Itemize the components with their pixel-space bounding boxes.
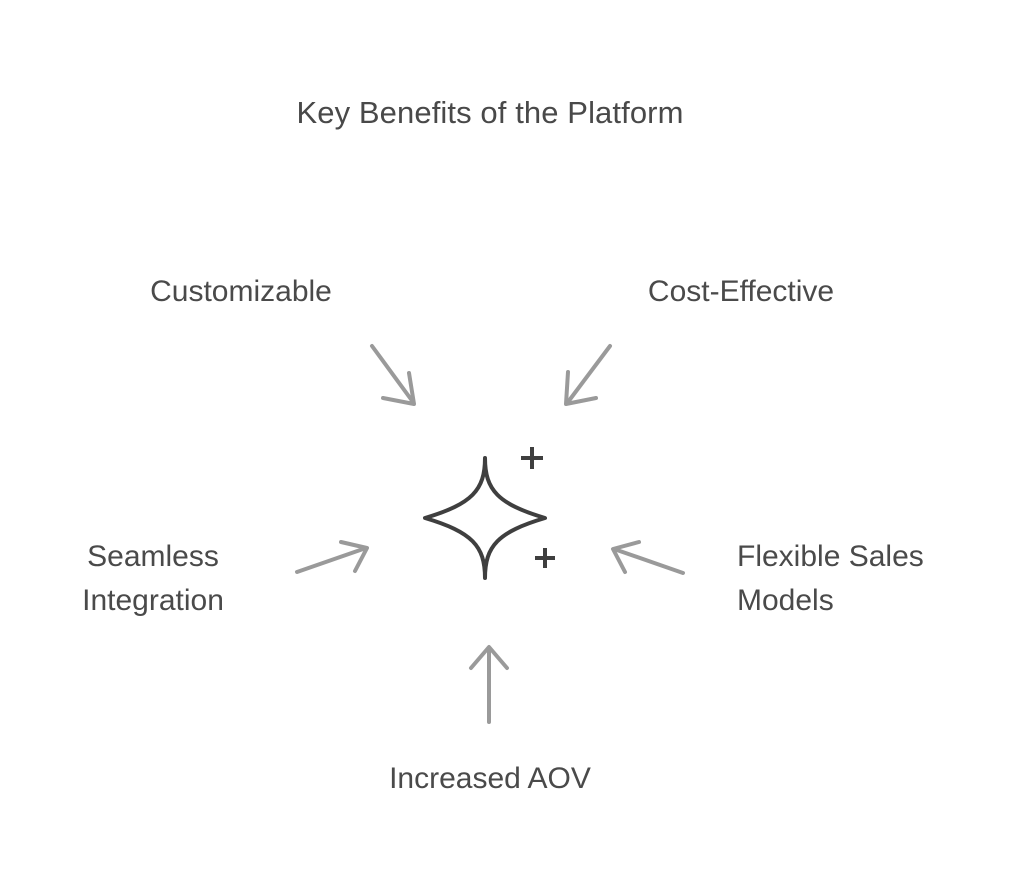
node-line: Customizable <box>128 270 354 314</box>
diagram-canvas: Key Benefits of the Platform <box>0 0 1024 891</box>
arrow-flexible-sales-models <box>613 542 683 573</box>
page-title: Key Benefits of the Platform <box>0 92 980 134</box>
node-label-cost-effective: Cost-Effective <box>626 270 856 314</box>
arrow-cost-effective <box>566 346 610 404</box>
node-line: Seamless <box>40 535 266 579</box>
node-line: Cost-Effective <box>626 270 856 314</box>
node-label-flexible-sales-models: Flexible Sales Models <box>737 535 987 623</box>
node-line: Integration <box>40 579 266 623</box>
plus-sign-top-icon <box>521 447 543 469</box>
plus-sign-bottom-icon <box>535 548 555 568</box>
arrow-increased-aov <box>471 647 507 722</box>
node-label-increased-aov: Increased AOV <box>340 757 640 801</box>
node-line: Increased AOV <box>340 757 640 801</box>
node-line: Flexible Sales <box>737 535 987 579</box>
node-label-customizable: Customizable <box>128 270 354 314</box>
node-label-seamless-integration: Seamless Integration <box>40 535 266 623</box>
arrow-seamless-integration <box>297 542 367 572</box>
arrow-customizable <box>372 346 414 404</box>
center-sparkle-group <box>412 434 572 599</box>
sparkle-icon <box>425 458 545 578</box>
node-line: Models <box>737 579 987 623</box>
